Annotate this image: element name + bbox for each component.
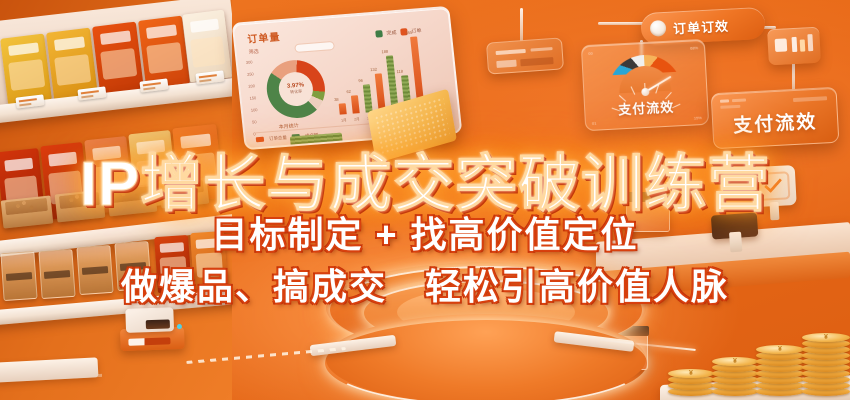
- product-package: [154, 235, 192, 293]
- tag-line: [496, 49, 526, 55]
- cube-lid: [625, 192, 671, 202]
- bar-value: 132: [370, 67, 377, 72]
- gauge-corner-label: 68%: [690, 45, 698, 50]
- bar: 62: [351, 95, 360, 113]
- sign-pole: [770, 202, 780, 220]
- y-tick: 100: [251, 107, 258, 112]
- bar-value: 96: [358, 78, 363, 83]
- badge-dot-icon: [650, 20, 667, 37]
- snack-jar: [76, 245, 113, 295]
- footer-swatch-orders: [256, 137, 265, 143]
- wooden-crate: [159, 178, 209, 209]
- order-efficiency-badge[interactable]: 订单订效: [640, 7, 766, 45]
- bar: 38: [339, 103, 347, 114]
- retail-shelf-scene: [0, 0, 232, 400]
- card-line: [720, 99, 729, 102]
- donut-center: 3.97% 转化率: [277, 71, 314, 107]
- payment-flow-card[interactable]: 支付流效: [711, 87, 840, 150]
- device-bar: [792, 37, 798, 52]
- gauge-corner-label: 00: [588, 51, 593, 56]
- payment-gauge-card: 00 68% 01 15% 支付流效: [581, 39, 709, 131]
- hanging-info-tag: [486, 37, 564, 74]
- x-tick: 1月: [340, 118, 348, 124]
- y-tick: 200: [248, 83, 255, 88]
- bar-value: 118: [396, 69, 403, 74]
- badge-label: 订单订效: [673, 15, 730, 37]
- y-tick: 50: [252, 119, 259, 124]
- subtitle-line-1: 目标制定 + 找高价值定位: [211, 206, 638, 258]
- gauge-corner-label: 01: [592, 121, 597, 126]
- payment-flow-card-label: 支付流效: [713, 106, 838, 139]
- coin-stack: [712, 340, 758, 396]
- pos-stand: [729, 232, 742, 253]
- coin-stacks: [668, 300, 850, 400]
- receipt-printer: [119, 307, 184, 351]
- coin-top: [802, 333, 850, 342]
- snack-jar: [114, 241, 151, 291]
- bar-value: 62: [346, 89, 351, 94]
- y-tick: 150: [249, 95, 256, 100]
- card-line: [793, 96, 827, 102]
- bar-value: 38: [334, 97, 339, 102]
- coin-top: [668, 369, 714, 378]
- tag-line: [520, 57, 553, 66]
- tag-line: [530, 47, 552, 52]
- bar-value: 255: [405, 30, 412, 35]
- pos-terminal: [711, 212, 759, 251]
- coin-top: [756, 345, 804, 354]
- gauge-needle-hub: [641, 88, 649, 96]
- glass-cube: [626, 198, 670, 232]
- product-package: [0, 34, 52, 105]
- promo-banner: 订单量 筛选 完成 订单 300 250 200 150 100 50 0 3.…: [0, 0, 850, 400]
- coin-stack: [668, 356, 714, 396]
- dashboard-title: 订单量: [247, 28, 281, 46]
- device-bar: [807, 34, 813, 51]
- snack-jar: [0, 251, 37, 301]
- product-package: [138, 16, 190, 89]
- glowing-stage: [318, 262, 654, 400]
- coin-stack: [802, 308, 850, 396]
- coin-top: [712, 357, 758, 366]
- bar: 96: [363, 84, 373, 112]
- card-line: [732, 98, 746, 102]
- y-tick: 300: [246, 59, 253, 64]
- donut-chart: 3.97% 转化率: [264, 58, 328, 120]
- wooden-crate: [107, 184, 158, 217]
- device-bar: [800, 39, 806, 51]
- footer-label-orders: 订单总量: [269, 134, 288, 141]
- x-tick: 2月: [353, 117, 361, 123]
- product-package: [92, 22, 144, 95]
- printer-slot: [146, 319, 170, 329]
- snack-jar: [38, 249, 75, 299]
- wooden-crate: [55, 190, 106, 223]
- y-axis-ticks: 300 250 200 150 100 50 0: [246, 59, 261, 136]
- date-range-chip[interactable]: [294, 41, 335, 53]
- tag-wire: [520, 8, 523, 42]
- checkmark-sign: [751, 165, 802, 219]
- donut-sublabel: 转化率: [290, 89, 303, 96]
- dashboard-filter-label: 筛选: [248, 48, 259, 56]
- footer-green-bar: [290, 133, 343, 149]
- product-package: [190, 231, 228, 289]
- mini-device-widget: [767, 27, 821, 66]
- stage-glow-arc-front: [325, 320, 647, 400]
- card-line: [720, 105, 740, 109]
- coin-stack: [756, 324, 804, 396]
- wooden-crate: [1, 195, 54, 228]
- device-screen-icon: [775, 38, 788, 52]
- gauge-label: 支付流效: [585, 95, 708, 120]
- y-tick: 250: [247, 71, 254, 76]
- printer-strip: [128, 337, 170, 345]
- gauge-corner-label: 15%: [694, 115, 702, 120]
- bar-value: 188: [381, 49, 388, 54]
- connector-wire: [598, 22, 644, 25]
- tag-line: [496, 60, 516, 68]
